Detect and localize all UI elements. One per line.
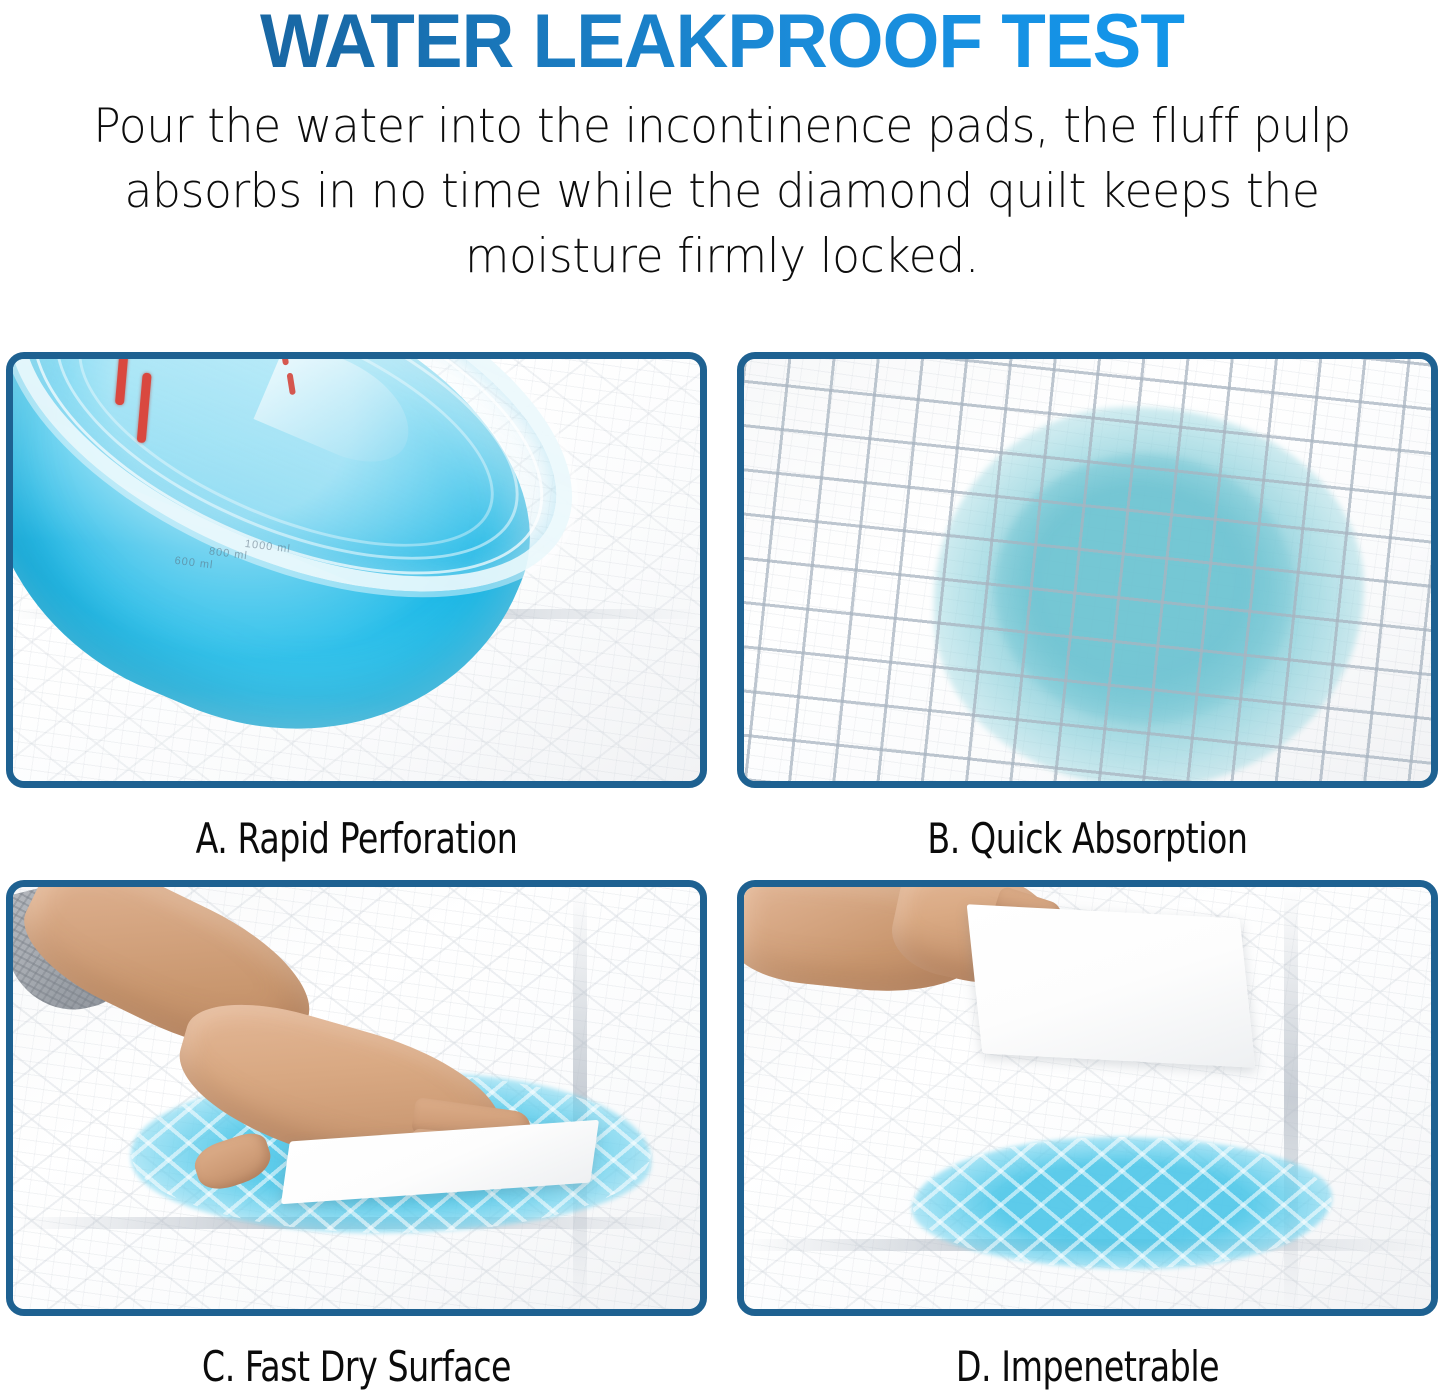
panel-b: B. Quick Absorption [737, 352, 1438, 880]
panel-b-caption: B. Quick Absorption [779, 788, 1396, 880]
tissue-sheet [967, 904, 1256, 1067]
infographic-page: WATER LEAKPROOF TEST Pour the water into… [0, 0, 1444, 1400]
panel-row-bottom: C. Fast Dry Surface [6, 880, 1438, 1400]
panel-d: D. Impenetrable [737, 880, 1438, 1400]
panel-d-frame [737, 880, 1438, 1316]
panel-b-photo [744, 359, 1431, 781]
panel-d-photo [744, 887, 1431, 1309]
panel-a-caption: A. Rapid Perforation [48, 788, 665, 880]
panel-grid: 1000 ml 800 ml 600 ml A. Rapid Perforati… [6, 352, 1438, 1400]
panel-a-photo: 1000 ml 800 ml 600 ml [13, 359, 700, 781]
panel-b-frame [737, 352, 1438, 788]
panel-row-top: 1000 ml 800 ml 600 ml A. Rapid Perforati… [6, 352, 1438, 880]
page-title: WATER LEAKPROOF TEST [29, 2, 1415, 82]
blue-absorbed-quilt-texture [912, 1137, 1332, 1269]
panel-c-caption: C. Fast Dry Surface [48, 1316, 665, 1400]
panel-c: C. Fast Dry Surface [6, 880, 707, 1400]
panel-c-frame [6, 880, 707, 1316]
panel-a-frame: 1000 ml 800 ml 600 ml [6, 352, 707, 788]
page-subtitle: Pour the water into the incontinence pad… [22, 94, 1423, 289]
header: WATER LEAKPROOF TEST Pour the water into… [0, 0, 1444, 289]
panel-c-photo [13, 887, 700, 1309]
panel-a: 1000 ml 800 ml 600 ml A. Rapid Perforati… [6, 352, 707, 880]
quilt-grid-pattern [744, 359, 1431, 781]
pad-seam-vertical [1284, 887, 1298, 1309]
panel-d-caption: D. Impenetrable [779, 1316, 1396, 1400]
